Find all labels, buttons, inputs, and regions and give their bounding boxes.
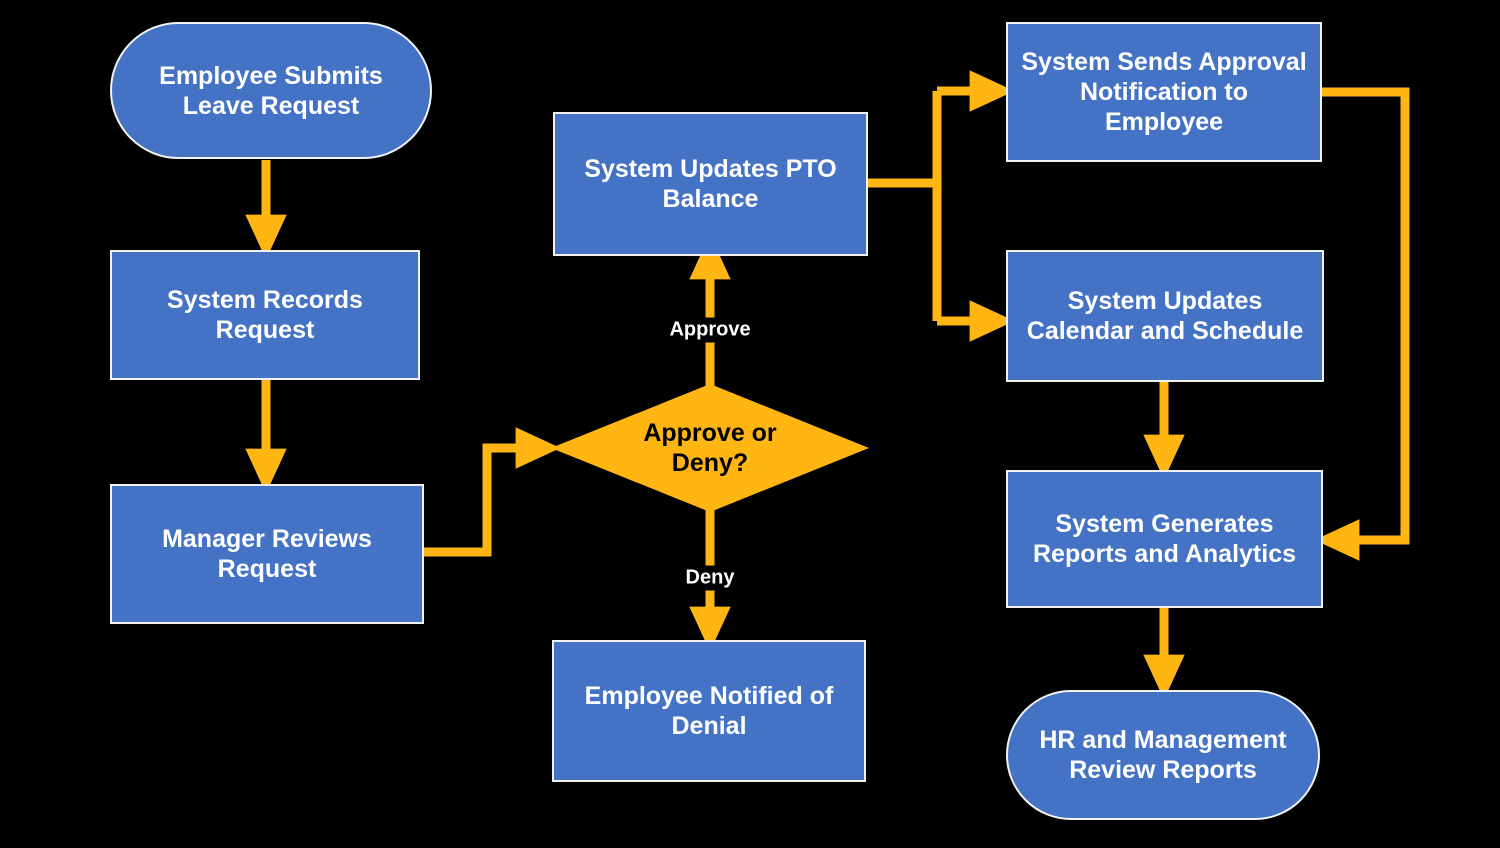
node-hr-and-management-review-reports[interactable]: HR and Management Review Reports: [1006, 690, 1320, 820]
node-label: Employee Notified of Denial: [554, 681, 864, 741]
node-label: System Sends Approval Notification to Em…: [1008, 47, 1320, 137]
edge-notify-to-reports: [1322, 92, 1405, 540]
node-label: System Records Request: [112, 285, 418, 345]
node-employee-notified-of-denial[interactable]: Employee Notified of Denial: [552, 640, 866, 782]
flowchart-canvas: Employee Submits Leave Request System Re…: [0, 0, 1500, 848]
node-label: Employee Submits Leave Request: [112, 61, 430, 121]
node-manager-reviews-request[interactable]: Manager Reviews Request: [110, 484, 424, 624]
node-system-updates-pto-balance[interactable]: System Updates PTO Balance: [553, 112, 868, 256]
node-system-sends-approval-notification[interactable]: System Sends Approval Notification to Em…: [1006, 22, 1322, 162]
edge-label-deny: Deny: [681, 566, 740, 591]
node-label: System Updates PTO Balance: [555, 154, 866, 214]
node-label: System Generates Reports and Analytics: [1008, 509, 1321, 569]
edge-label-approve: Approve: [664, 318, 755, 343]
node-system-records-request[interactable]: System Records Request: [110, 250, 420, 380]
node-system-generates-reports-and-analytics[interactable]: System Generates Reports and Analytics: [1006, 470, 1323, 608]
node-label: Manager Reviews Request: [112, 524, 422, 584]
node-approve-or-deny-decision[interactable]: Approve or Deny?: [551, 384, 869, 512]
node-label: System Updates Calendar and Schedule: [1008, 286, 1322, 346]
node-label: HR and Management Review Reports: [1008, 725, 1318, 785]
edge-review-to-decision: [424, 448, 539, 552]
node-employee-submits-leave-request[interactable]: Employee Submits Leave Request: [110, 22, 432, 159]
node-system-updates-calendar-and-schedule[interactable]: System Updates Calendar and Schedule: [1006, 250, 1324, 382]
node-label: Approve or Deny?: [551, 418, 869, 478]
